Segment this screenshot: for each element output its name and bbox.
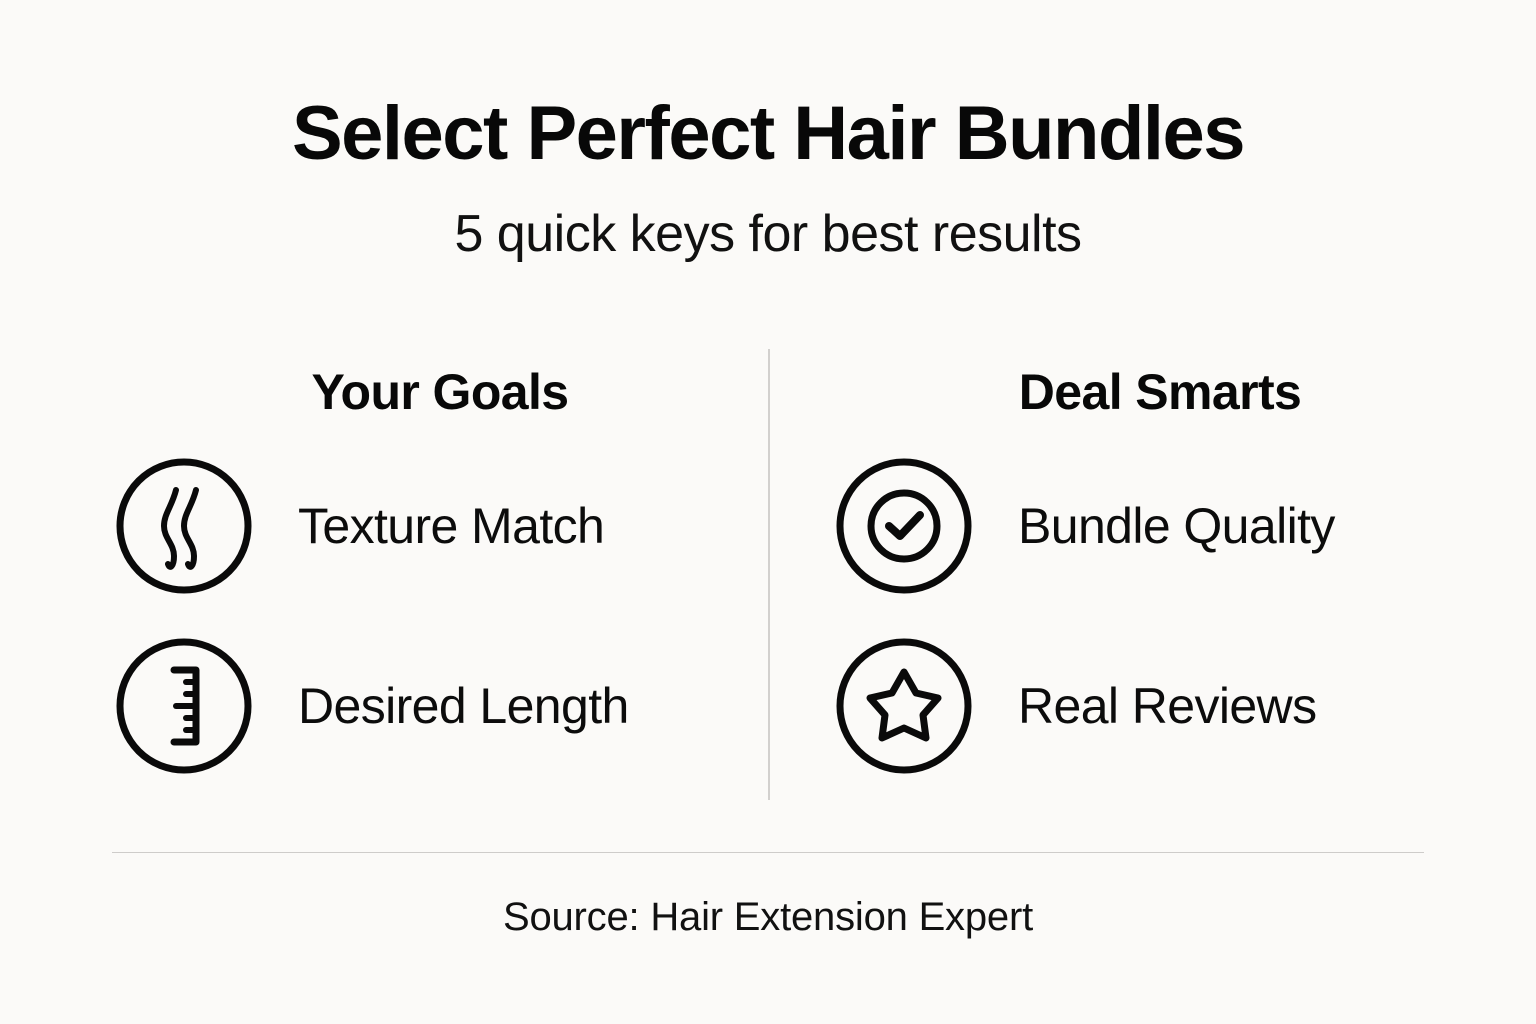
columns-container: Your Goals Texture Match [0,349,1536,800]
list-item[interactable]: Desired Length [112,634,768,778]
source-label: Source: Hair Extension Expert [0,895,1536,940]
list-item[interactable]: Real Reviews [832,634,1488,778]
column-deal-smarts: Deal Smarts Bundle Quality [832,349,1488,800]
list-item-label: Desired Length [256,680,768,733]
list-item[interactable]: Texture Match [112,454,768,598]
footer: Source: Hair Extension Expert [0,895,1536,940]
list-item-label: Texture Match [256,500,768,553]
column-your-goals: Your Goals Texture Match [112,349,768,800]
page-title: Select Perfect Hair Bundles [0,96,1536,172]
list-item-label: Bundle Quality [976,500,1488,553]
list-left: Texture Match [112,454,768,778]
column-title-left: Your Goals [112,349,768,421]
list-item-label: Real Reviews [976,680,1488,733]
hair-wave-icon [112,454,256,598]
infographic-canvas: Select Perfect Hair Bundles 5 quick keys… [0,0,1536,1024]
column-title-right: Deal Smarts [832,349,1488,421]
footer-divider [112,852,1424,853]
check-circle-icon [832,454,976,598]
ruler-icon [112,634,256,778]
list-right: Bundle Quality Real Reviews [832,454,1488,778]
list-item[interactable]: Bundle Quality [832,454,1488,598]
page-subtitle: 5 quick keys for best results [0,172,1536,260]
star-circle-icon [832,634,976,778]
header: Select Perfect Hair Bundles 5 quick keys… [0,96,1536,260]
